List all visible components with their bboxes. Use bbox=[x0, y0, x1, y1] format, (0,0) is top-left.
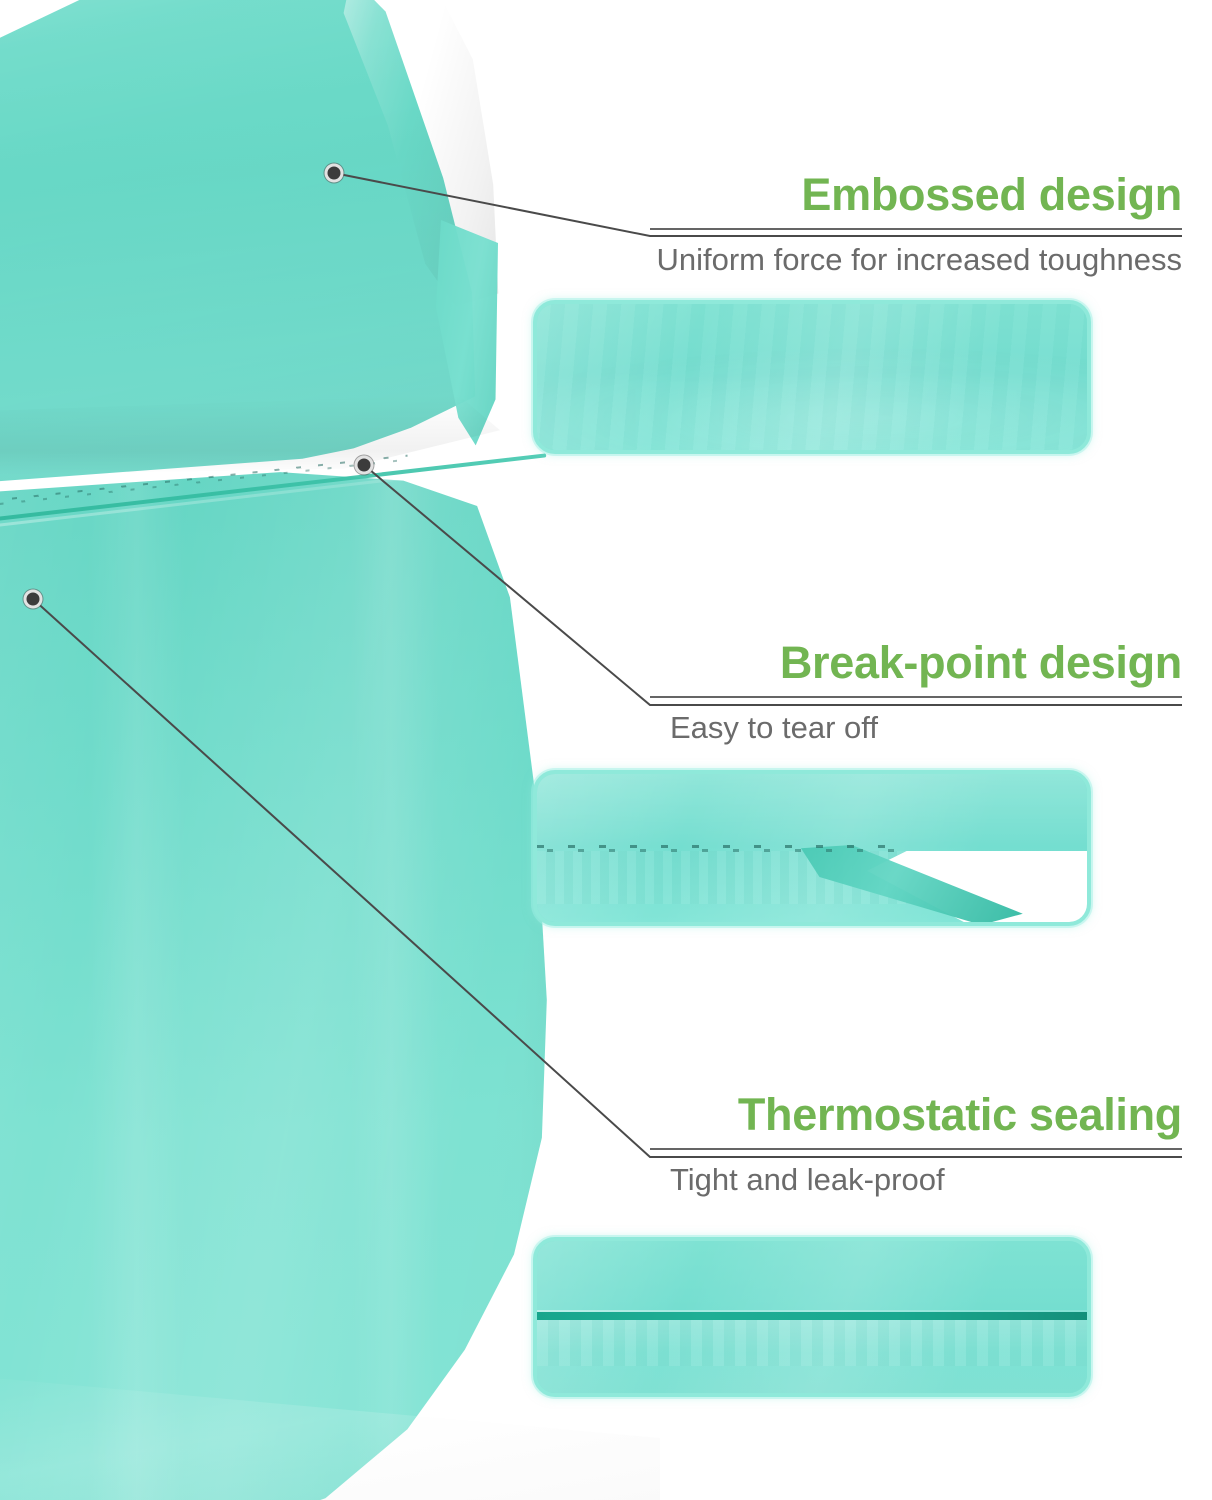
feature-title-break-point: Break-point design bbox=[530, 640, 1182, 685]
infographic-canvas: Embossed design Uniform force for increa… bbox=[0, 0, 1212, 1500]
panel-upper-band bbox=[537, 774, 1087, 848]
feature-rule-embossed bbox=[650, 228, 1182, 230]
feature-block-embossed-design: Embossed design Uniform force for increa… bbox=[530, 172, 1182, 278]
feature-subtitle-embossed: Uniform force for increased toughness bbox=[530, 243, 1182, 278]
feature-subtitle-thermostatic: Tight and leak-proof bbox=[670, 1163, 1182, 1198]
feature-block-break-point-design: Break-point design Easy to tear off bbox=[530, 640, 1182, 746]
feature-rule-break-point bbox=[650, 696, 1182, 698]
feature-block-thermostatic-sealing: Thermostatic sealing Tight and leak-proo… bbox=[530, 1092, 1182, 1198]
feature-rule-thermostatic bbox=[650, 1148, 1182, 1150]
callout-dot-thermostatic[interactable] bbox=[24, 590, 43, 609]
callout-dot-break-point[interactable] bbox=[355, 456, 374, 475]
feature-title-embossed: Embossed design bbox=[530, 172, 1182, 217]
panel-ripples bbox=[537, 1320, 1087, 1366]
detail-panel-heat-seal-seam-closeup bbox=[533, 1237, 1091, 1397]
detail-panel-perforation-tear-closeup bbox=[533, 770, 1091, 926]
embossed-texture bbox=[537, 304, 1087, 450]
detail-panel-embossed-surface-closeup bbox=[533, 300, 1091, 454]
feature-title-thermostatic: Thermostatic sealing bbox=[530, 1092, 1182, 1137]
perforation-marks bbox=[537, 842, 900, 854]
callout-dot-embossed[interactable] bbox=[325, 164, 344, 183]
feature-subtitle-break-point: Easy to tear off bbox=[670, 711, 1182, 746]
heat-seal-bar bbox=[537, 1312, 1087, 1320]
